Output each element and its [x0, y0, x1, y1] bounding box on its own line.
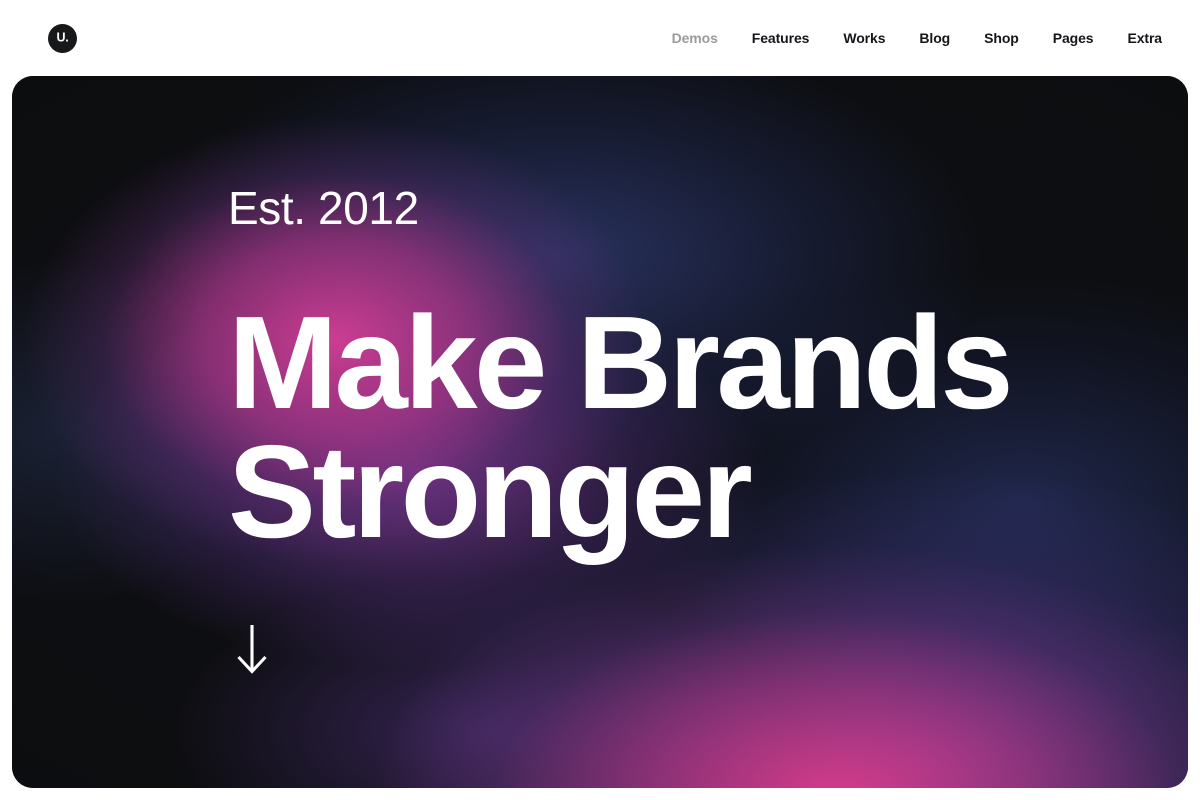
hero-eyebrow: Est. 2012 [228, 185, 419, 231]
brand-logo[interactable]: U. [48, 24, 77, 53]
hero-title: Make Brands Stronger [228, 298, 1010, 557]
page-root: U. Demos Features Works Blog Shop Pages … [0, 0, 1200, 800]
nav-item-works[interactable]: Works [826, 25, 902, 51]
nav-item-extra[interactable]: Extra [1110, 25, 1162, 51]
arrow-down-icon[interactable] [230, 622, 274, 676]
brand-logo-text: U. [56, 31, 68, 44]
nav-item-shop[interactable]: Shop [967, 25, 1036, 51]
nav-item-demos[interactable]: Demos [655, 25, 735, 51]
site-header: U. Demos Features Works Blog Shop Pages … [0, 0, 1200, 76]
nav-item-pages[interactable]: Pages [1036, 25, 1111, 51]
main-nav: Demos Features Works Blog Shop Pages Ext… [655, 25, 1162, 51]
nav-item-features[interactable]: Features [735, 25, 827, 51]
hero-title-line-2: Stronger [228, 427, 1010, 556]
hero-content: Est. 2012 Make Brands Stronger [228, 76, 1188, 788]
hero-title-line-1: Make Brands [228, 298, 1010, 427]
nav-item-blog[interactable]: Blog [902, 25, 967, 51]
hero-card: Est. 2012 Make Brands Stronger [12, 76, 1188, 788]
